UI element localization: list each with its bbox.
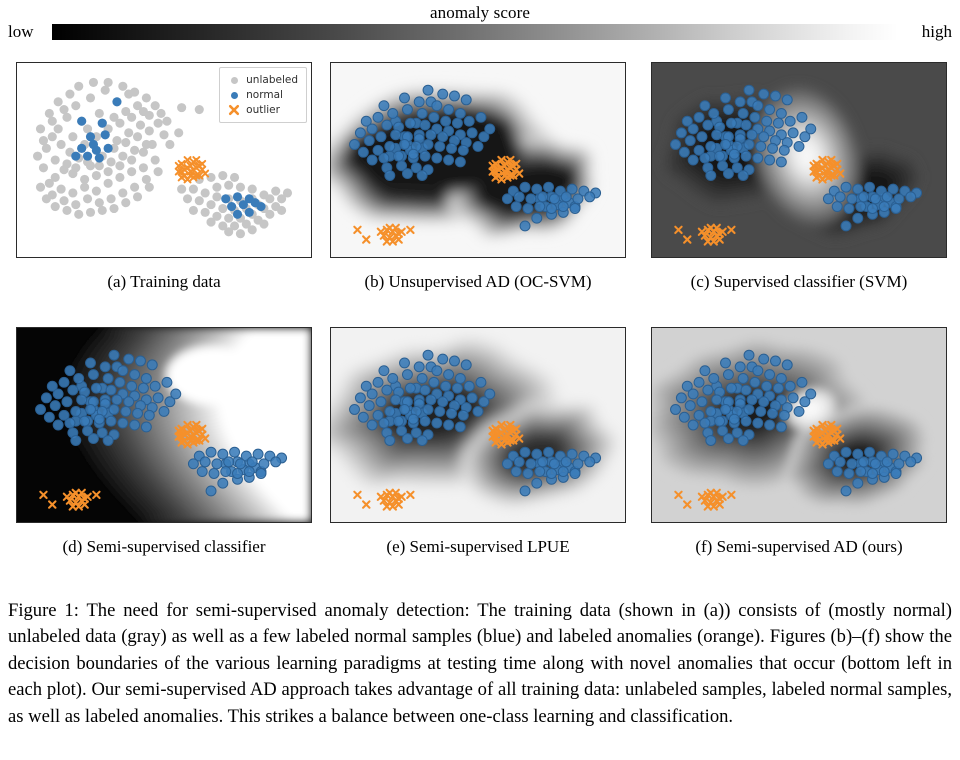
data-point bbox=[103, 436, 113, 446]
data-point bbox=[438, 397, 448, 407]
data-point bbox=[364, 136, 374, 146]
data-point bbox=[42, 144, 51, 153]
data-point bbox=[779, 410, 789, 420]
data-point bbox=[189, 206, 198, 215]
data-point bbox=[57, 140, 66, 149]
data-point bbox=[400, 93, 410, 103]
data-point bbox=[738, 108, 748, 118]
data-point bbox=[726, 383, 736, 393]
data-point bbox=[405, 118, 415, 128]
data-point bbox=[461, 95, 471, 105]
data-point bbox=[476, 377, 486, 387]
data-point bbox=[709, 373, 719, 383]
data-point bbox=[71, 406, 81, 416]
colorbar: low high bbox=[0, 22, 960, 42]
data-point bbox=[118, 152, 127, 161]
data-point bbox=[429, 377, 439, 387]
data-point bbox=[130, 420, 140, 430]
data-point bbox=[744, 85, 754, 95]
data-point bbox=[741, 416, 751, 426]
data-point bbox=[141, 422, 151, 432]
data-point bbox=[688, 389, 698, 399]
data-point bbox=[150, 381, 160, 391]
data-point bbox=[100, 362, 110, 372]
data-point bbox=[118, 366, 128, 376]
data-point bbox=[77, 144, 86, 153]
data-point bbox=[435, 406, 445, 416]
data-point bbox=[859, 192, 869, 202]
data-point bbox=[59, 165, 68, 174]
data-point bbox=[95, 154, 104, 163]
figure-caption-text: The need for semi-supervised anomaly det… bbox=[8, 600, 952, 727]
data-point bbox=[218, 171, 227, 180]
data-point bbox=[721, 93, 731, 103]
data-point bbox=[177, 103, 186, 112]
data-point bbox=[753, 153, 763, 163]
data-point bbox=[712, 395, 722, 405]
data-point bbox=[697, 132, 707, 142]
data-point bbox=[432, 366, 442, 376]
data-point bbox=[573, 459, 583, 469]
data-point bbox=[162, 377, 172, 387]
data-point bbox=[256, 202, 265, 211]
data-point bbox=[747, 395, 757, 405]
data-point bbox=[744, 350, 754, 360]
data-point bbox=[42, 194, 51, 203]
data-point bbox=[62, 397, 72, 407]
data-point bbox=[502, 459, 512, 469]
data-point bbox=[265, 210, 274, 219]
data-point bbox=[703, 385, 713, 395]
data-point bbox=[236, 183, 245, 192]
data-point bbox=[118, 188, 127, 197]
data-point bbox=[455, 373, 465, 383]
data-point bbox=[388, 108, 398, 118]
legend-label-unlabeled: unlabeled bbox=[246, 75, 298, 86]
data-point bbox=[206, 486, 216, 496]
data-point bbox=[130, 146, 139, 155]
data-point bbox=[762, 381, 772, 391]
data-point bbox=[444, 155, 454, 165]
data-point bbox=[549, 459, 559, 469]
data-point bbox=[104, 167, 113, 176]
data-point bbox=[882, 457, 892, 467]
data-point bbox=[458, 410, 468, 420]
data-point bbox=[86, 93, 95, 102]
data-point bbox=[458, 145, 468, 155]
data-point bbox=[65, 89, 74, 98]
data-point bbox=[44, 412, 54, 422]
panel-f-semi-supervised-ad bbox=[651, 327, 947, 523]
data-point bbox=[685, 136, 695, 146]
data-point bbox=[788, 128, 798, 138]
data-point bbox=[859, 457, 869, 467]
data-point bbox=[124, 128, 133, 137]
data-point bbox=[45, 109, 54, 118]
data-point bbox=[221, 467, 231, 477]
data-point bbox=[83, 194, 92, 203]
data-point bbox=[438, 132, 448, 142]
data-point bbox=[80, 183, 89, 192]
data-point bbox=[547, 469, 557, 479]
data-point bbox=[561, 192, 571, 202]
data-point bbox=[700, 366, 710, 376]
data-point bbox=[776, 108, 786, 118]
data-point bbox=[544, 182, 554, 192]
data-point bbox=[408, 414, 418, 424]
data-point bbox=[676, 128, 686, 138]
data-point bbox=[879, 202, 889, 212]
panel-e-semi-supervised-lpue bbox=[330, 327, 626, 523]
data-point bbox=[212, 459, 222, 469]
data-point bbox=[92, 186, 101, 195]
data-point bbox=[139, 163, 148, 172]
data-point bbox=[71, 101, 80, 110]
data-point bbox=[201, 188, 210, 197]
data-point bbox=[679, 412, 689, 422]
data-point bbox=[744, 140, 754, 150]
data-point bbox=[118, 418, 128, 428]
data-point bbox=[759, 397, 769, 407]
data-point bbox=[156, 109, 165, 118]
data-point bbox=[124, 354, 134, 364]
data-point bbox=[80, 175, 89, 184]
data-point bbox=[400, 140, 410, 150]
data-point bbox=[402, 434, 412, 444]
data-point bbox=[776, 422, 786, 432]
data-point bbox=[355, 128, 365, 138]
data-point bbox=[450, 91, 460, 101]
data-point bbox=[759, 132, 769, 142]
data-point bbox=[112, 395, 122, 405]
data-point bbox=[561, 457, 571, 467]
data-point bbox=[94, 414, 104, 424]
data-point bbox=[538, 457, 548, 467]
data-point bbox=[59, 105, 68, 114]
data-point bbox=[485, 389, 495, 399]
data-point bbox=[426, 130, 436, 140]
data-point bbox=[174, 128, 183, 137]
panel-c-supervised-classifier bbox=[651, 62, 947, 258]
data-point bbox=[514, 457, 524, 467]
data-point bbox=[109, 350, 119, 360]
data-point bbox=[771, 356, 781, 366]
data-point bbox=[694, 112, 704, 122]
data-point bbox=[151, 155, 160, 164]
data-point bbox=[91, 383, 101, 393]
data-point bbox=[841, 486, 851, 496]
data-point bbox=[195, 196, 204, 205]
data-point bbox=[558, 467, 568, 477]
data-point bbox=[112, 136, 121, 145]
data-point bbox=[438, 89, 448, 99]
data-point bbox=[86, 405, 96, 415]
data-point bbox=[154, 119, 163, 128]
data-point bbox=[408, 149, 418, 159]
data-point bbox=[452, 118, 462, 128]
data-point bbox=[144, 410, 154, 420]
data-point bbox=[206, 447, 216, 457]
data-point bbox=[865, 447, 875, 457]
data-point bbox=[573, 194, 583, 204]
data-point bbox=[856, 202, 866, 212]
unlabeled-marker-icon bbox=[226, 74, 242, 86]
data-point bbox=[244, 467, 254, 477]
data-point bbox=[86, 132, 95, 141]
data-point bbox=[441, 381, 451, 391]
data-point bbox=[183, 194, 192, 203]
data-point bbox=[36, 405, 46, 415]
data-point bbox=[823, 194, 833, 204]
data-point bbox=[121, 138, 130, 147]
data-point bbox=[420, 151, 430, 161]
data-point bbox=[706, 406, 716, 416]
data-point bbox=[726, 118, 736, 128]
data-point bbox=[773, 383, 783, 393]
figure-caption: Figure 1: The need for semi-supervised a… bbox=[8, 598, 952, 730]
data-point bbox=[139, 148, 148, 157]
data-point bbox=[206, 218, 215, 227]
data-point bbox=[227, 202, 236, 211]
data-point bbox=[785, 381, 795, 391]
data-point bbox=[385, 406, 395, 416]
data-point bbox=[206, 200, 215, 209]
data-point bbox=[245, 208, 254, 217]
panel-b-unsupervised-ad bbox=[330, 62, 626, 258]
data-point bbox=[768, 143, 778, 153]
data-point bbox=[115, 119, 124, 128]
data-point bbox=[124, 397, 134, 407]
data-point bbox=[891, 469, 901, 479]
data-point bbox=[423, 140, 433, 150]
data-point bbox=[452, 383, 462, 393]
data-point bbox=[162, 117, 171, 126]
data-point bbox=[773, 118, 783, 128]
figure-1: anomaly score low high unlabeled normal bbox=[0, 0, 960, 760]
colorbar-low-label: low bbox=[8, 22, 34, 42]
legend-item-outlier: outlier bbox=[226, 103, 298, 117]
data-point bbox=[473, 141, 483, 151]
data-point bbox=[355, 393, 365, 403]
data-point bbox=[694, 377, 704, 387]
data-point bbox=[461, 360, 471, 370]
data-point bbox=[891, 204, 901, 214]
data-point bbox=[373, 377, 383, 387]
data-point bbox=[145, 183, 154, 192]
data-point bbox=[753, 418, 763, 428]
data-point bbox=[59, 377, 69, 387]
data-point bbox=[201, 208, 210, 217]
data-point bbox=[224, 457, 234, 467]
data-point bbox=[104, 144, 113, 153]
data-point bbox=[570, 204, 580, 214]
data-point bbox=[236, 229, 245, 238]
data-point bbox=[62, 206, 71, 215]
data-point bbox=[429, 112, 439, 122]
data-point bbox=[88, 434, 98, 444]
figure-caption-label: Figure 1: bbox=[8, 600, 79, 621]
data-point bbox=[455, 108, 465, 118]
data-point bbox=[785, 116, 795, 126]
data-point bbox=[868, 204, 878, 214]
data-point bbox=[153, 393, 163, 403]
data-point bbox=[750, 377, 760, 387]
data-point bbox=[894, 459, 904, 469]
data-point bbox=[235, 459, 245, 469]
data-point bbox=[765, 370, 775, 380]
data-point bbox=[906, 192, 916, 202]
data-point bbox=[797, 112, 807, 122]
data-point bbox=[823, 459, 833, 469]
data-point bbox=[54, 124, 63, 133]
data-point bbox=[753, 366, 763, 376]
data-point bbox=[841, 221, 851, 231]
data-point bbox=[382, 120, 392, 130]
data-point bbox=[700, 101, 710, 111]
data-point bbox=[80, 416, 90, 426]
data-point bbox=[68, 188, 77, 197]
panel-d-semi-supervised-classifier bbox=[16, 327, 312, 523]
data-point bbox=[367, 124, 377, 134]
data-point bbox=[447, 408, 457, 418]
data-point bbox=[502, 194, 512, 204]
data-point bbox=[141, 373, 151, 383]
data-point bbox=[671, 140, 681, 150]
data-point bbox=[154, 167, 163, 176]
data-point bbox=[788, 393, 798, 403]
data-point bbox=[405, 383, 415, 393]
data-point bbox=[679, 147, 689, 157]
data-point bbox=[65, 366, 75, 376]
data-point bbox=[841, 447, 851, 457]
data-point bbox=[423, 405, 433, 415]
data-point bbox=[455, 157, 465, 167]
data-point bbox=[259, 459, 269, 469]
data-point bbox=[417, 436, 427, 446]
data-point bbox=[159, 130, 168, 139]
data-point bbox=[62, 113, 71, 122]
data-point bbox=[759, 89, 769, 99]
data-point bbox=[520, 447, 530, 457]
data-point bbox=[36, 124, 45, 133]
data-point bbox=[455, 422, 465, 432]
data-point bbox=[423, 350, 433, 360]
data-point bbox=[741, 151, 751, 161]
data-point bbox=[104, 179, 113, 188]
data-point bbox=[782, 360, 792, 370]
data-point bbox=[765, 155, 775, 165]
data-point bbox=[233, 192, 242, 201]
data-point bbox=[376, 132, 386, 142]
data-point bbox=[585, 192, 595, 202]
data-point bbox=[147, 360, 157, 370]
data-point bbox=[473, 406, 483, 416]
data-point bbox=[33, 152, 42, 161]
panel-d-plot bbox=[17, 328, 311, 522]
data-point bbox=[68, 132, 77, 141]
data-point bbox=[188, 459, 198, 469]
data-point bbox=[230, 447, 240, 457]
data-point bbox=[106, 385, 116, 395]
data-point bbox=[570, 469, 580, 479]
data-point bbox=[535, 202, 545, 212]
outlier-marker-icon bbox=[226, 104, 242, 116]
data-point bbox=[45, 179, 54, 188]
data-point bbox=[367, 420, 377, 430]
data-point bbox=[256, 469, 266, 479]
data-point bbox=[71, 152, 80, 161]
data-point bbox=[77, 395, 87, 405]
data-point bbox=[115, 161, 124, 170]
data-point bbox=[712, 130, 722, 140]
data-point bbox=[115, 377, 125, 387]
data-point bbox=[36, 183, 45, 192]
data-point bbox=[224, 214, 233, 223]
data-point bbox=[426, 395, 436, 405]
data-point bbox=[535, 467, 545, 477]
data-point bbox=[68, 385, 78, 395]
data-point bbox=[782, 95, 792, 105]
data-point bbox=[195, 105, 204, 114]
panel-b-plot bbox=[331, 63, 625, 257]
data-point bbox=[776, 373, 786, 383]
data-point bbox=[283, 188, 292, 197]
data-point bbox=[189, 185, 198, 194]
data-point bbox=[417, 108, 427, 118]
data-point bbox=[248, 225, 257, 234]
data-point bbox=[738, 373, 748, 383]
data-point bbox=[209, 469, 219, 479]
data-point bbox=[159, 406, 169, 416]
colorbar-high-label: high bbox=[922, 22, 952, 42]
data-point bbox=[765, 420, 775, 430]
data-point bbox=[92, 146, 101, 155]
data-point bbox=[218, 204, 227, 213]
data-point bbox=[402, 169, 412, 179]
panel-f-caption: (f) Semi-supervised AD (ours) bbox=[651, 537, 947, 557]
data-point bbox=[88, 370, 98, 380]
data-point bbox=[744, 405, 754, 415]
data-point bbox=[853, 213, 863, 223]
data-point bbox=[853, 478, 863, 488]
data-point bbox=[376, 397, 386, 407]
data-point bbox=[715, 416, 725, 426]
data-point bbox=[107, 157, 116, 166]
data-point bbox=[841, 182, 851, 192]
data-point bbox=[115, 173, 124, 182]
data-point bbox=[39, 136, 48, 145]
data-point bbox=[112, 97, 121, 106]
data-point bbox=[797, 377, 807, 387]
data-point bbox=[835, 192, 845, 202]
legend-label-outlier: outlier bbox=[246, 105, 280, 116]
data-point bbox=[247, 457, 257, 467]
data-point bbox=[476, 112, 486, 122]
panel-c-caption: (c) Supervised classifier (SVM) bbox=[651, 272, 947, 292]
data-point bbox=[729, 149, 739, 159]
data-point bbox=[671, 405, 681, 415]
legend-label-normal: normal bbox=[246, 90, 283, 101]
data-point bbox=[741, 120, 751, 130]
panel-a-training-data: unlabeled normal outlier bbox=[16, 62, 312, 258]
data-point bbox=[230, 173, 239, 182]
data-point bbox=[367, 155, 377, 165]
data-point bbox=[98, 206, 107, 215]
panel-e-plot bbox=[331, 328, 625, 522]
data-point bbox=[136, 121, 145, 130]
data-point bbox=[441, 116, 451, 126]
data-point bbox=[233, 469, 243, 479]
